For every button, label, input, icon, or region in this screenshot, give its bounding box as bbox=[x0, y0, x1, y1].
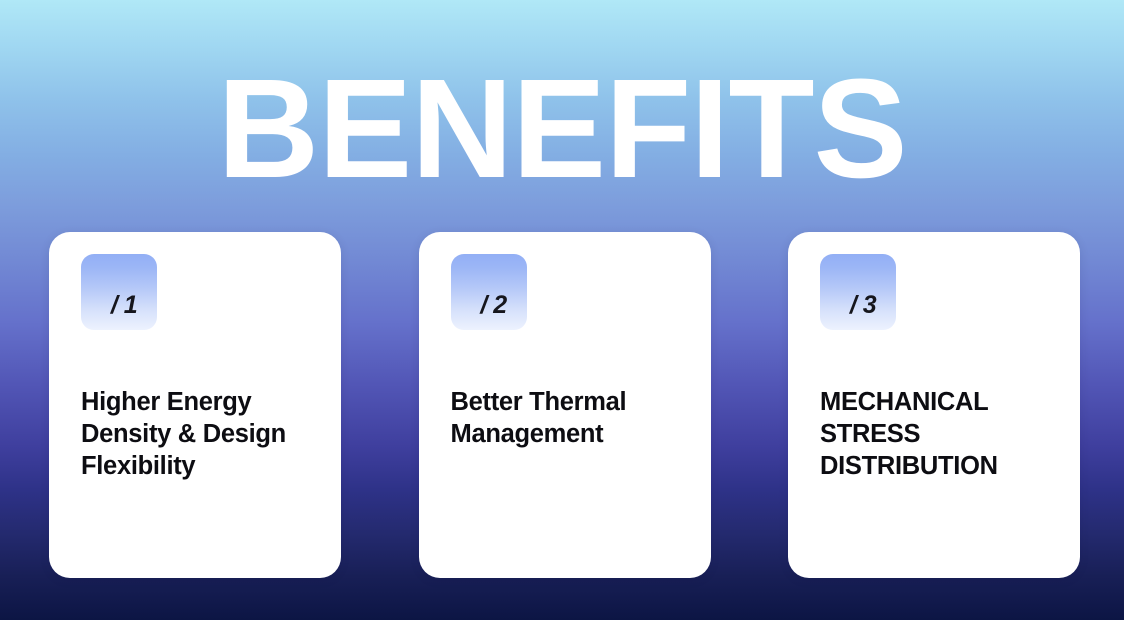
badge-label: / 3 bbox=[820, 293, 896, 318]
benefit-card-2[interactable]: / 2 Better Thermal Management bbox=[419, 232, 711, 578]
benefits-slide: BENEFITS / 1 Higher Energy Density & Des… bbox=[0, 0, 1124, 620]
badge-number-3: / 3 bbox=[820, 254, 896, 330]
benefit-heading-2: Better Thermal Management bbox=[451, 386, 711, 450]
benefit-cards-row: / 1 Higher Energy Density & Design Flexi… bbox=[49, 232, 1080, 578]
benefit-heading-3: MECHANICAL STRESS DISTRIBUTION bbox=[820, 386, 1080, 482]
page-title: BENEFITS bbox=[0, 58, 1124, 199]
benefit-card-3[interactable]: / 3 MECHANICAL STRESS DISTRIBUTION bbox=[788, 232, 1080, 578]
badge-number-2: / 2 bbox=[451, 254, 527, 330]
badge-number-1: / 1 bbox=[81, 254, 157, 330]
benefit-card-1[interactable]: / 1 Higher Energy Density & Design Flexi… bbox=[49, 232, 341, 578]
badge-label: / 2 bbox=[451, 293, 527, 318]
badge-label: / 1 bbox=[81, 293, 157, 318]
benefit-heading-1: Higher Energy Density & Design Flexibili… bbox=[81, 386, 341, 482]
